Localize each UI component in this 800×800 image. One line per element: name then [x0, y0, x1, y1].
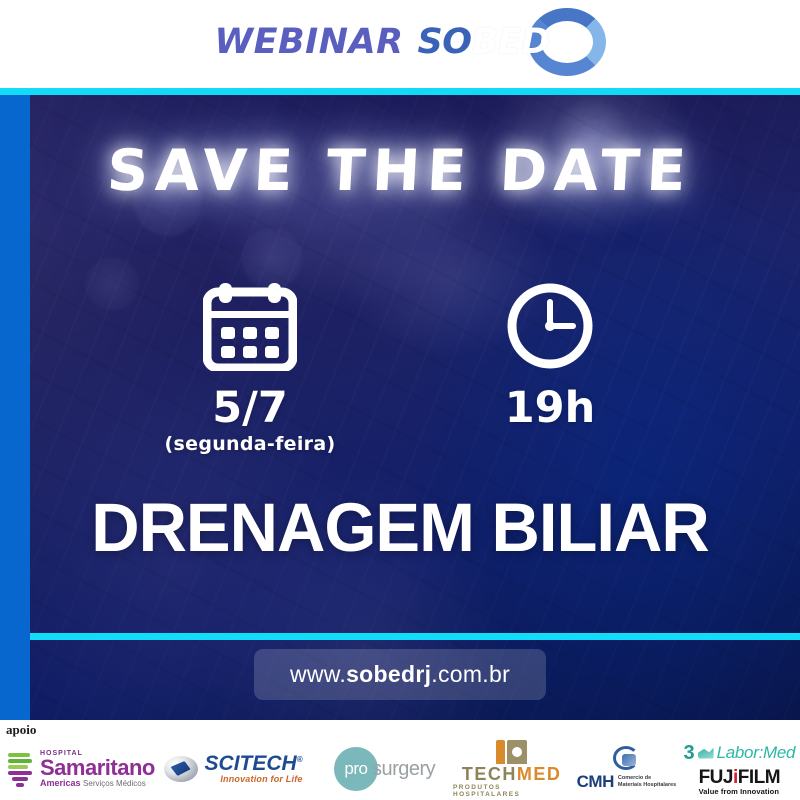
hero-panel: SAVE THE DATE — [0, 88, 800, 720]
sponsor-logo-samaritano[interactable]: HOSPITAL Samaritano Americas Serviços Mé… — [0, 750, 150, 788]
clock-icon — [455, 278, 645, 374]
event-headline: DRENAGEM BILIAR — [12, 488, 788, 567]
calendar-icon — [155, 278, 345, 374]
samaritano-bottom: Americas Serviços Médicos — [40, 779, 155, 788]
samaritano-bottom-bold: Americas — [40, 778, 81, 788]
fujifilm-main-b: FILM — [738, 767, 780, 788]
website-brand: sobedrj — [346, 661, 431, 687]
prosurgery-word: surgery — [372, 758, 435, 781]
sponsor-strip: apoio HOSPITAL Samaritano Americas Servi… — [0, 720, 800, 800]
event-time-value: 19h — [455, 386, 645, 431]
sponsor-logo-scitech[interactable]: SCITECH® Innovation for Life — [150, 753, 316, 784]
scitech-trademark: ® — [297, 755, 303, 764]
sobed-rj-logo-text: SOBED-RJ — [418, 22, 586, 62]
scitech-main: SCITECH® — [205, 753, 303, 775]
techmed-main: TECHMED — [462, 765, 562, 783]
techmed-main-b: MED — [517, 764, 562, 784]
event-date-block: 5/7 (segunda-feira) — [155, 278, 345, 455]
scitech-tagline: Innovation for Life — [205, 775, 303, 784]
sponsor-logo-cmh[interactable]: CMH Comercio de Materiais Hospitalares — [570, 746, 682, 792]
scitech-name: SCITECH — [205, 752, 297, 775]
event-info-row: 5/7 (segunda-feira) 19h — [0, 278, 800, 455]
event-time-block: 19h — [455, 278, 645, 433]
brand-lockup: WEBINAR SOBED-RJ — [214, 11, 585, 73]
techmed-mark-icon — [496, 740, 527, 764]
cmh-sub-line1: Comercio de — [618, 775, 676, 782]
cmh-main: CMH — [577, 772, 614, 792]
frame-rule-top — [0, 88, 800, 95]
event-date-value: 5/7 — [155, 386, 345, 431]
cmh-mark-icon — [613, 746, 639, 770]
website-prefix: www. — [290, 661, 346, 687]
techmed-sub: PRODUTOS HOSPITALARES — [453, 784, 570, 798]
webinar-word: WEBINAR — [214, 22, 403, 62]
website-suffix: .com.br — [431, 661, 510, 687]
samaritano-text: HOSPITAL Samaritano Americas Serviços Mé… — [40, 750, 155, 788]
sponsor-logo-row: HOSPITAL Samaritano Americas Serviços Mé… — [0, 738, 800, 800]
techmed-main-a: TECH — [462, 764, 517, 784]
labormed-wave-icon — [698, 747, 714, 759]
logo-text-rj: -RJ — [550, 31, 586, 59]
cmh-sub-line2: Materiais Hospitalares — [618, 782, 676, 789]
fujifilm-sub: Value from Innovation — [699, 787, 781, 796]
event-date-weekday: (segunda-feira) — [155, 433, 345, 455]
save-the-date-title: SAVE THE DATE — [0, 138, 800, 204]
sobed-rj-logo: SOBED-RJ — [418, 11, 586, 73]
logo-text-so: SO — [418, 22, 472, 62]
sponsor-logo-labormed-fujifilm[interactable]: 3 Labor:Med FUJiFILM Value from Innovati… — [683, 743, 800, 796]
labormed-logo[interactable]: 3 Labor:Med — [683, 743, 795, 763]
labormed-number: 3 — [683, 743, 694, 763]
frame-rule-bottom — [0, 633, 800, 640]
fujifilm-main-a: FUJ — [699, 767, 733, 788]
scitech-text: SCITECH® Innovation for Life — [205, 753, 303, 784]
logo-text-bed: BED — [472, 22, 550, 62]
samaritano-main: Samaritano — [40, 757, 155, 779]
scitech-mark-icon — [164, 756, 198, 782]
labormed-text: Labor:Med — [717, 743, 796, 763]
samaritano-mark-icon — [8, 751, 34, 787]
fujifilm-logo[interactable]: FUJiFILM Value from Innovation — [699, 768, 781, 796]
poster-header: WEBINAR SOBED-RJ — [0, 0, 800, 88]
samaritano-bottom-light: Serviços Médicos — [83, 779, 146, 788]
cmh-sub: Comercio de Materiais Hospitalares — [618, 775, 676, 789]
webinar-poster: WEBINAR SOBED-RJ SAVE THE DATE — [0, 0, 800, 800]
sponsor-logo-techmed[interactable]: TECHMED PRODUTOS HOSPITALARES — [453, 740, 570, 798]
website-pill[interactable]: www.sobedrj.com.br — [254, 649, 546, 700]
cmh-text-row: CMH Comercio de Materiais Hospitalares — [577, 772, 677, 792]
sponsor-logo-prosurgery[interactable]: pro surgery — [316, 747, 453, 791]
fujifilm-main: FUJiFILM — [699, 768, 781, 787]
sponsor-label: apoio — [6, 722, 36, 738]
